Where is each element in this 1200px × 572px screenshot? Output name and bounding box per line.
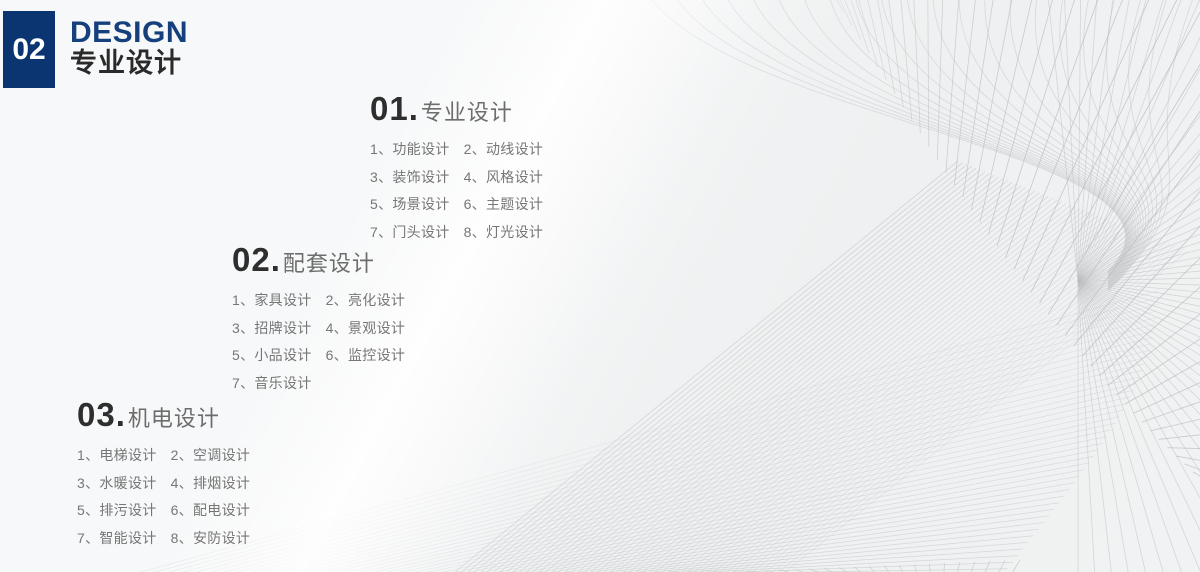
section-item-list: 1、电梯设计 2、空调设计 3、水暖设计 4、排烟设计 5、排污设计 6、配电设… (77, 445, 250, 550)
list-item: 5、小品设计 (232, 345, 312, 367)
slide-header: 02 DESIGN 专业设计 (3, 11, 188, 88)
list-item: 6、主题设计 (464, 194, 544, 216)
section-name: 机电设计 (128, 406, 220, 431)
list-item: 1、电梯设计 (77, 445, 157, 467)
list-item: 3、水暖设计 (77, 473, 157, 495)
list-item: 1、功能设计 (370, 139, 450, 161)
list-item: 7、音乐设计 (232, 373, 312, 395)
section-number-badge: 02 (3, 11, 55, 88)
section-item-list: 1、家具设计 2、亮化设计 3、招牌设计 4、景观设计 5、小品设计 6、监控设… (232, 290, 405, 395)
list-item: 5、场景设计 (370, 194, 450, 216)
section-heading: 03.机电设计 (77, 398, 250, 431)
section-number: 01. (370, 90, 419, 127)
section-block-02: 02.配套设计 1、家具设计 2、亮化设计 3、招牌设计 4、景观设计 5、小品… (232, 243, 405, 395)
list-item: 3、招牌设计 (232, 318, 312, 340)
section-name: 配套设计 (283, 251, 375, 276)
list-item: 8、灯光设计 (464, 222, 544, 244)
section-number: 03. (77, 396, 126, 433)
header-title-group: DESIGN 专业设计 (70, 11, 188, 88)
list-item: 4、风格设计 (464, 167, 544, 189)
section-heading: 01.专业设计 (370, 92, 543, 125)
list-item: 6、监控设计 (326, 345, 406, 367)
section-block-01: 01.专业设计 1、功能设计 2、动线设计 3、装饰设计 4、风格设计 5、场景… (370, 92, 543, 244)
slide-canvas: 02 DESIGN 专业设计 01.专业设计 1、功能设计 2、动线设计 3、装… (0, 0, 1200, 572)
section-number: 02. (232, 241, 281, 278)
list-item: 7、门头设计 (370, 222, 450, 244)
section-heading: 02.配套设计 (232, 243, 405, 276)
page-title-chinese: 专业设计 (70, 48, 188, 78)
list-item: 4、排烟设计 (171, 473, 251, 495)
section-block-03: 03.机电设计 1、电梯设计 2、空调设计 3、水暖设计 4、排烟设计 5、排污… (77, 398, 250, 550)
list-item: 1、家具设计 (232, 290, 312, 312)
list-item: 7、智能设计 (77, 528, 157, 550)
list-item: 4、景观设计 (326, 318, 406, 340)
list-item: 6、配电设计 (171, 500, 251, 522)
list-item: 2、空调设计 (171, 445, 251, 467)
section-item-list: 1、功能设计 2、动线设计 3、装饰设计 4、风格设计 5、场景设计 6、主题设… (370, 139, 543, 244)
list-item: 2、动线设计 (464, 139, 544, 161)
page-title-english: DESIGN (70, 17, 188, 49)
list-item: 5、排污设计 (77, 500, 157, 522)
section-name: 专业设计 (421, 100, 513, 125)
list-item: 8、安防设计 (171, 528, 251, 550)
list-item: 2、亮化设计 (326, 290, 406, 312)
list-item: 3、装饰设计 (370, 167, 450, 189)
